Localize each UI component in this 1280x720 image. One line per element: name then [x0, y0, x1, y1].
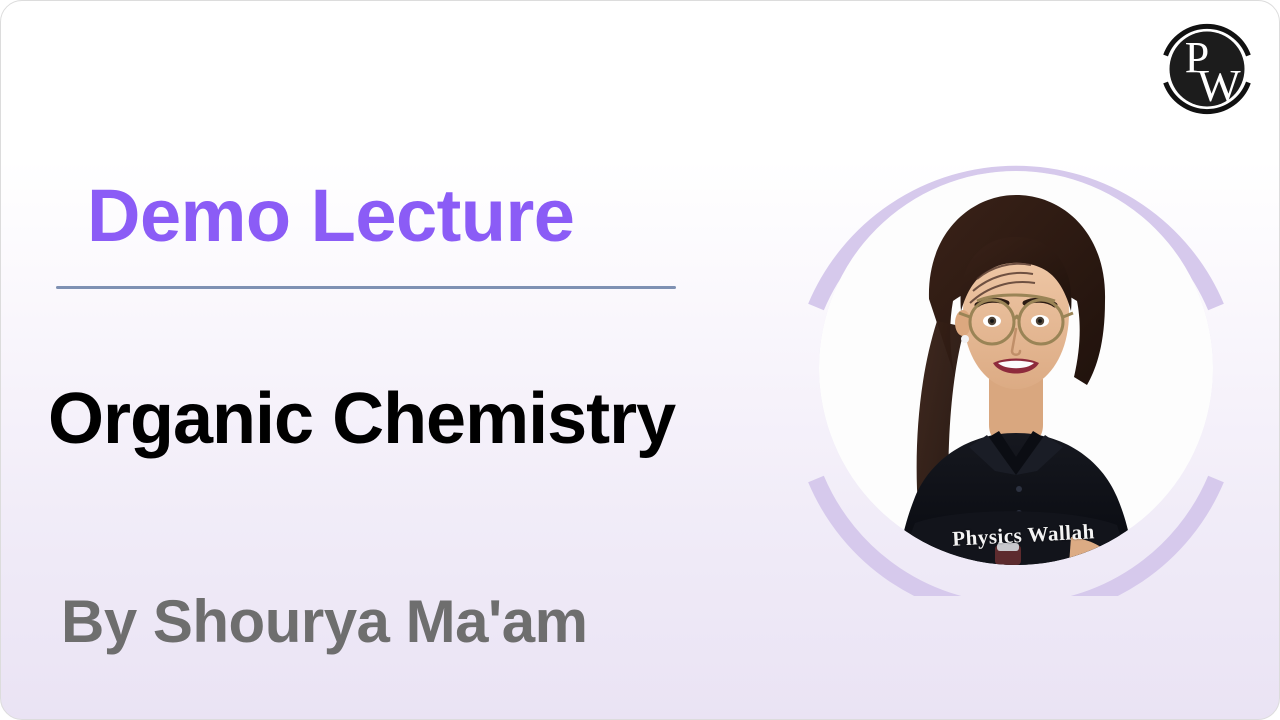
pw-logo-letter-w: W: [1197, 60, 1241, 111]
pw-logo-icon: P W: [1153, 15, 1261, 123]
presenter-credit: By Shourya Ma'am: [61, 592, 587, 652]
pw-logo[interactable]: P W: [1153, 15, 1261, 123]
title-divider: [56, 286, 676, 289]
instructor-portrait: Physics Wallah: [791, 141, 1241, 596]
slide-canvas: P W Demo Lecture Organic Chemistry By Sh…: [0, 0, 1280, 720]
subject-title: Organic Chemistry: [48, 383, 675, 455]
portrait-photo: Physics Wallah: [819, 171, 1213, 565]
page-title: Demo Lecture: [87, 179, 574, 253]
